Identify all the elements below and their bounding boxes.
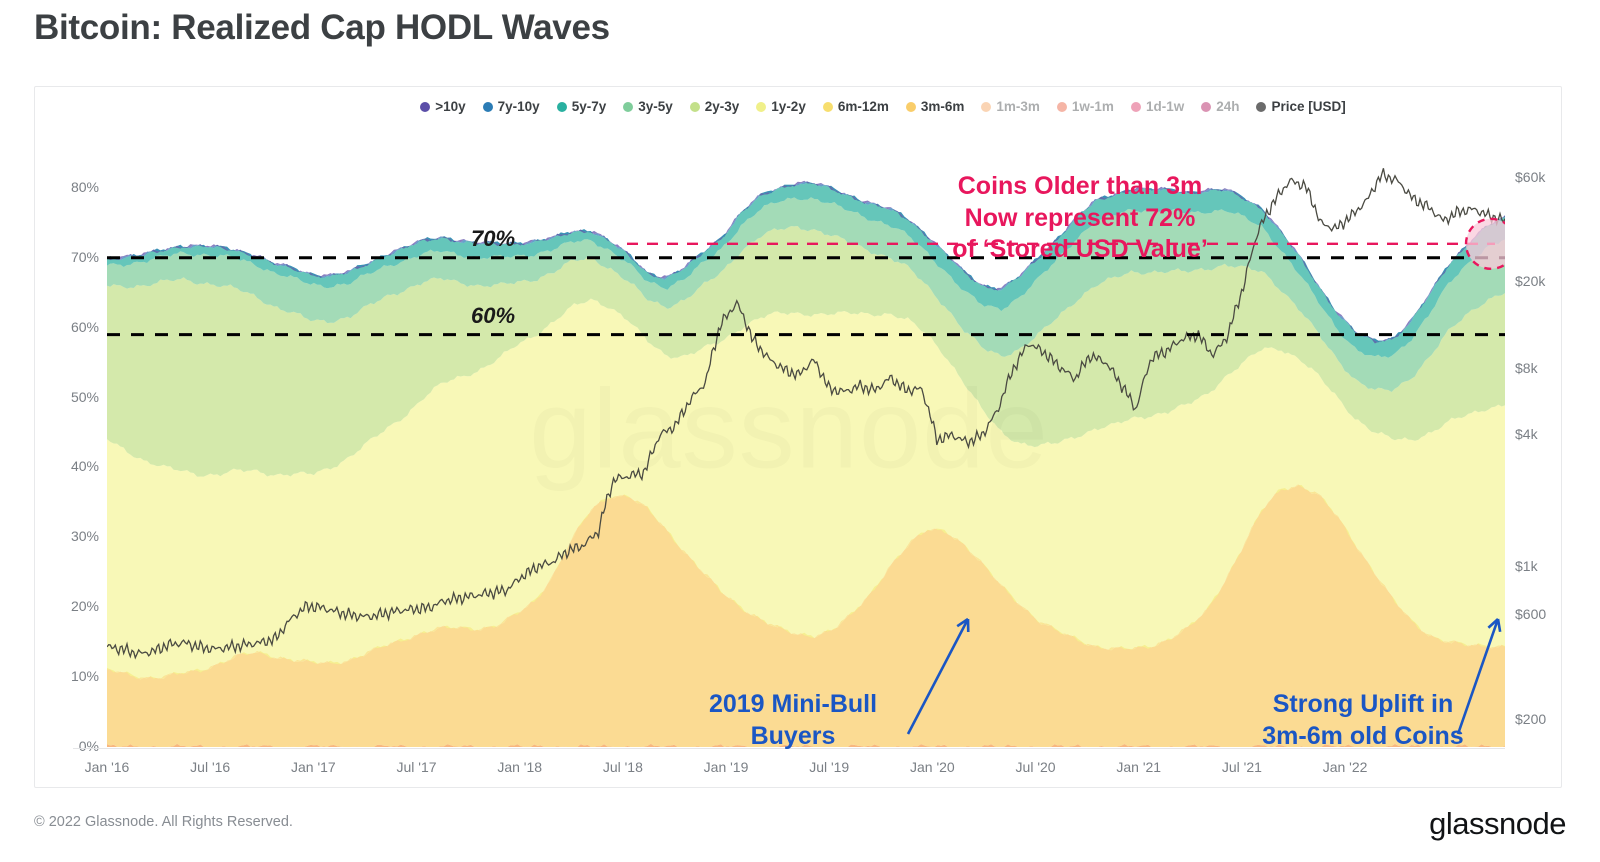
y-axis-tick-label: 0% [79, 738, 99, 754]
y-axis-tick-label: 70% [71, 249, 99, 265]
annotation-coins-older-than-3m-line-1: Coins Older than 3m [915, 171, 1245, 203]
legend-color-dot [557, 102, 567, 112]
legend-item-1m-3m[interactable]: 1m-3m [981, 99, 1040, 114]
x-axis-tick-label: Jan '22 [1323, 759, 1368, 775]
annotation-strong-uplift-3m-6m-line-2: 3m-6m old Coins [1233, 721, 1493, 753]
legend-item-label: 1y-2y [771, 99, 806, 114]
y-axis-tick-label: 10% [71, 668, 99, 684]
price-axis-tick-label: $200 [1515, 711, 1546, 727]
glassnode-logo: glassnode [1429, 806, 1566, 842]
annotation-coins-older-than-3m: Coins Older than 3mNow represent 72%of ‘… [915, 171, 1245, 266]
x-axis-tick-label: Jan '18 [497, 759, 542, 775]
x-axis-tick-label: Jul '21 [1222, 759, 1262, 775]
legend-item-5y-7y[interactable]: 5y-7y [557, 99, 607, 114]
annotation-coins-older-than-3m-line-3: of ‘Stored USD Value’ [915, 234, 1245, 266]
x-axis-tick-label: Jan '20 [910, 759, 955, 775]
legend-item-7y-10y[interactable]: 7y-10y [483, 99, 540, 114]
y-axis-tick-label: 80% [71, 179, 99, 195]
level-label-70: 70% [471, 226, 515, 252]
legend-color-dot [483, 102, 493, 112]
legend-item-label: 7y-10y [498, 99, 540, 114]
legend-color-dot [420, 102, 430, 112]
legend-color-dot [1201, 102, 1211, 112]
page-title: Bitcoin: Realized Cap HODL Waves [34, 8, 610, 48]
legend-color-dot [623, 102, 633, 112]
x-axis-tick-label: Jul '17 [397, 759, 437, 775]
legend-color-dot [823, 102, 833, 112]
y-axis-tick-label: 20% [71, 598, 99, 614]
legend-item-1d-1w[interactable]: 1d-1w [1131, 99, 1184, 114]
y-axis-tick-label: 50% [71, 389, 99, 405]
legend-item-2y-3y[interactable]: 2y-3y [690, 99, 740, 114]
legend-item-1y-2y[interactable]: 1y-2y [756, 99, 806, 114]
chart-legend: >10y7y-10y5y-7y3y-5y2y-3y1y-2y6m-12m3m-6… [35, 99, 1561, 114]
legend-color-dot [1057, 102, 1067, 112]
legend-item-label: >10y [435, 99, 465, 114]
chart-page: Bitcoin: Realized Cap HODL Waves >10y7y-… [0, 0, 1600, 862]
x-axis-tick-label: Jan '17 [291, 759, 336, 775]
chart-card: >10y7y-10y5y-7y3y-5y2y-3y1y-2y6m-12m3m-6… [34, 86, 1562, 788]
legend-color-dot [906, 102, 916, 112]
legend-color-dot [1256, 102, 1266, 112]
legend-item-label: 1d-1w [1146, 99, 1184, 114]
legend-item-label: 2y-3y [705, 99, 740, 114]
legend-item-label: 3y-5y [638, 99, 673, 114]
legend-item-6m-12m[interactable]: 6m-12m [823, 99, 889, 114]
legend-item-label: Price [USD] [1271, 99, 1345, 114]
plot-wrapper: glassnode 0%10%20%30%40%50%60%70%80%$200… [73, 129, 1505, 771]
plot-area [107, 139, 1505, 747]
y-axis-tick-label: 40% [71, 458, 99, 474]
y-axis-tick-label: 30% [71, 528, 99, 544]
x-axis-tick-label: Jul '16 [190, 759, 230, 775]
x-axis-tick-label: Jul '19 [809, 759, 849, 775]
level-label-60: 60% [471, 303, 515, 329]
x-axis-tick-label: Jan '19 [704, 759, 749, 775]
annotation-2019-mini-bull-buyers-line-1: 2019 Mini-Bull [668, 689, 918, 721]
price-axis-tick-label: $20k [1515, 273, 1545, 289]
legend-item-1w-1m[interactable]: 1w-1m [1057, 99, 1114, 114]
price-axis-tick-label: $8k [1515, 360, 1538, 376]
legend-item-price-usd[interactable]: Price [USD] [1256, 99, 1345, 114]
legend-item-3y-5y[interactable]: 3y-5y [623, 99, 673, 114]
legend-item-label: 1w-1m [1072, 99, 1114, 114]
legend-color-dot [1131, 102, 1141, 112]
legend-item-label: 5y-7y [572, 99, 607, 114]
price-axis-tick-label: $60k [1515, 169, 1545, 185]
legend-item-label: 6m-12m [838, 99, 889, 114]
annotation-strong-uplift-3m-6m: Strong Uplift in3m-6m old Coins [1233, 689, 1493, 752]
annotation-2019-mini-bull-buyers-line-2: Buyers [668, 721, 918, 753]
legend-item-label: 24h [1216, 99, 1239, 114]
x-axis-tick-label: Jul '20 [1016, 759, 1056, 775]
legend-item-24h[interactable]: 24h [1201, 99, 1239, 114]
x-axis-tick-label: Jul '18 [603, 759, 643, 775]
annotation-coins-older-than-3m-line-2: Now represent 72% [915, 203, 1245, 235]
footer-copyright: © 2022 Glassnode. All Rights Reserved. [34, 814, 293, 830]
x-axis-tick-label: Jan '21 [1116, 759, 1161, 775]
annotation-strong-uplift-3m-6m-line-1: Strong Uplift in [1233, 689, 1493, 721]
legend-item-label: 1m-3m [996, 99, 1040, 114]
legend-color-dot [690, 102, 700, 112]
legend-color-dot [981, 102, 991, 112]
y-axis-tick-label: 60% [71, 319, 99, 335]
legend-color-dot [756, 102, 766, 112]
stacked-area-chart [107, 139, 1505, 747]
legend-item-3m-6m[interactable]: 3m-6m [906, 99, 965, 114]
price-axis-tick-label: $4k [1515, 426, 1538, 442]
legend-item--10y[interactable]: >10y [420, 99, 465, 114]
price-axis-tick-label: $600 [1515, 606, 1546, 622]
annotation-2019-mini-bull-buyers: 2019 Mini-BullBuyers [668, 689, 918, 752]
x-axis-tick-label: Jan '16 [85, 759, 130, 775]
legend-item-label: 3m-6m [921, 99, 965, 114]
price-axis-tick-label: $1k [1515, 558, 1538, 574]
